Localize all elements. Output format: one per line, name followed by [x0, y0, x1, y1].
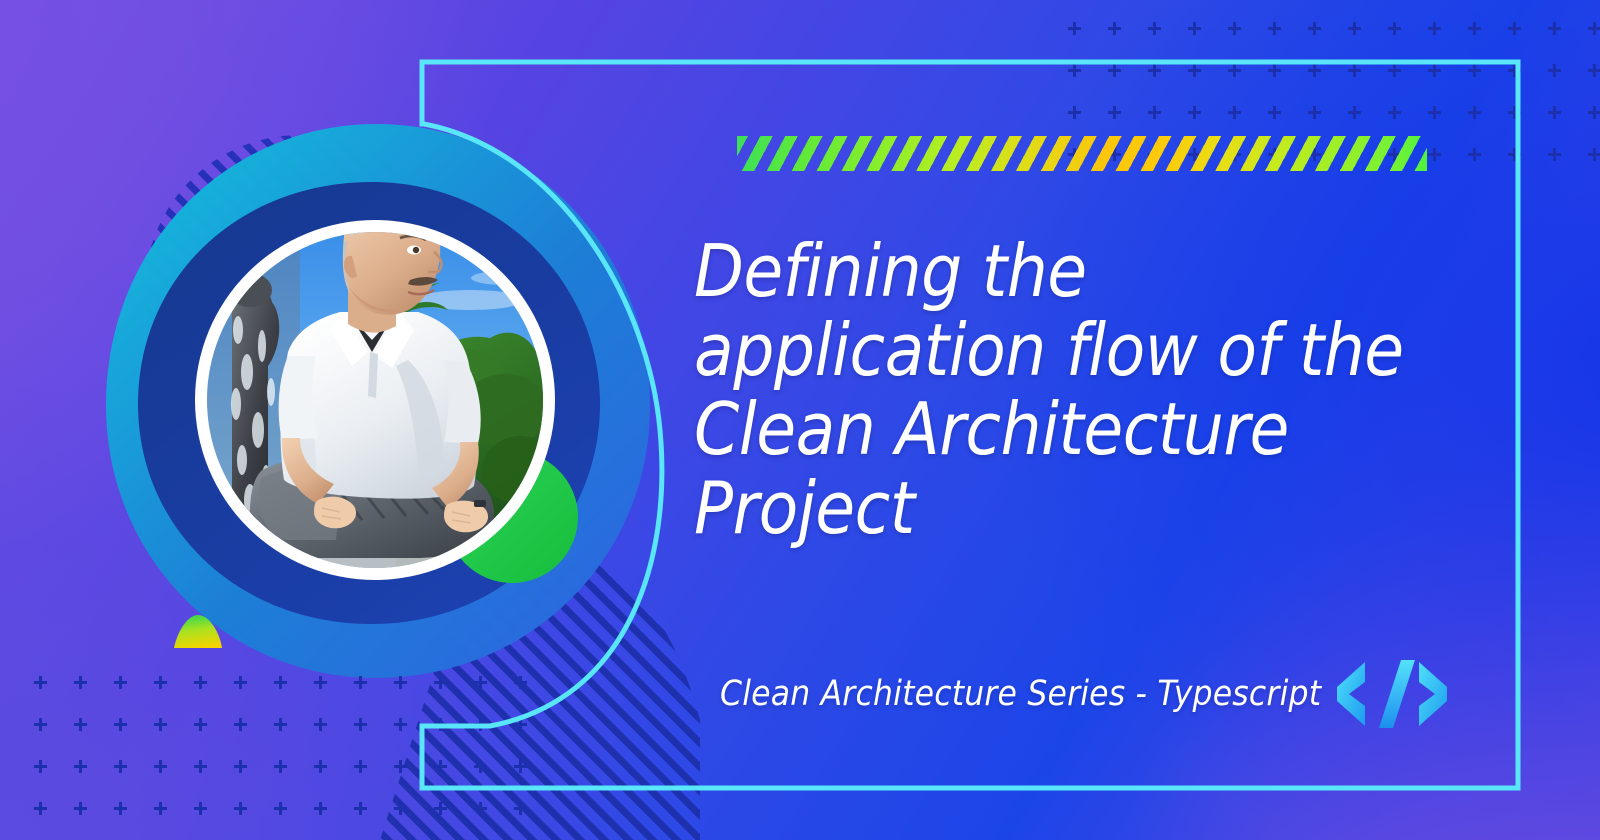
plus-mark: [74, 676, 87, 689]
plus-mark: [154, 802, 167, 815]
plus-mark: [274, 676, 287, 689]
plus-mark: [34, 676, 47, 689]
plus-mark: [1428, 106, 1441, 119]
plus-mark: [194, 718, 207, 731]
plus-mark: [1388, 64, 1401, 77]
plus-mark: [1188, 64, 1201, 77]
series-subtitle: Clean Architecture Series - Typescript: [720, 673, 1321, 715]
plus-mark: [154, 718, 167, 731]
plus-mark: [474, 760, 487, 773]
plus-mark: [354, 676, 367, 689]
plus-mark: [1428, 22, 1441, 35]
plus-mark: [1508, 22, 1521, 35]
plus-mark: [1548, 106, 1561, 119]
plus-mark: [1268, 106, 1281, 119]
plus-mark: [74, 760, 87, 773]
plus-mark: [1188, 106, 1201, 119]
plus-mark: [234, 760, 247, 773]
stripe-bar-fill: [737, 136, 1427, 171]
series-subtitle-row: Clean Architecture Series - Typescript: [720, 658, 1447, 730]
plus-mark: [434, 718, 447, 731]
plus-mark: [34, 760, 47, 773]
plus-mark: [1108, 64, 1121, 77]
hatch-pattern-upper-left: [120, 120, 500, 470]
plus-mark: [154, 760, 167, 773]
plus-mark: [1308, 64, 1321, 77]
social-banner-card: Defining the application flow of the Cle…: [0, 0, 1600, 840]
plus-mark: [1348, 22, 1361, 35]
plus-mark: [394, 802, 407, 815]
diagonal-stripe-bar: [737, 136, 1427, 171]
green-yellow-triangle: [174, 615, 222, 648]
plus-mark: [1508, 106, 1521, 119]
plus-mark: [1388, 22, 1401, 35]
plus-mark: [274, 760, 287, 773]
plus-mark: [114, 802, 127, 815]
plus-mark: [514, 802, 527, 815]
plus-mark: [34, 802, 47, 815]
plus-mark: [1428, 64, 1441, 77]
plus-mark: [74, 718, 87, 731]
plus-mark: [1468, 64, 1481, 77]
plus-mark: [1588, 64, 1600, 77]
plus-mark: [354, 802, 367, 815]
plus-mark: [1548, 148, 1561, 161]
plus-mark: [34, 718, 47, 731]
avatar-photo: [207, 195, 558, 568]
plus-mark: [114, 676, 127, 689]
plus-mark: [234, 676, 247, 689]
code-brackets-icon: [1335, 658, 1447, 730]
plus-mark: [474, 718, 487, 731]
plus-mark: [154, 676, 167, 689]
plus-mark: [1228, 22, 1241, 35]
plus-mark: [234, 718, 247, 731]
plus-mark: [1508, 148, 1521, 161]
plus-mark: [1308, 22, 1321, 35]
plus-mark: [1588, 22, 1600, 35]
plus-mark: [274, 802, 287, 815]
plus-mark: [1508, 64, 1521, 77]
plus-mark: [1548, 22, 1561, 35]
plus-mark: [1388, 106, 1401, 119]
plus-mark: [1148, 64, 1161, 77]
plus-mark: [1068, 22, 1081, 35]
plus-mark: [1148, 22, 1161, 35]
plus-mark: [1068, 106, 1081, 119]
plus-mark: [1268, 22, 1281, 35]
plus-mark: [434, 760, 447, 773]
blob-green: [446, 451, 578, 583]
plus-mark: [1228, 64, 1241, 77]
plus-mark: [194, 760, 207, 773]
plus-mark: [1188, 22, 1201, 35]
blob-navy: [138, 182, 600, 624]
plus-mark: [1268, 64, 1281, 77]
plus-mark: [1068, 64, 1081, 77]
plus-mark: [1428, 148, 1441, 161]
plus-mark: [1148, 106, 1161, 119]
plus-mark: [1468, 106, 1481, 119]
plus-mark: [1108, 106, 1121, 119]
plus-mark: [514, 676, 527, 689]
plus-mark: [114, 718, 127, 731]
plus-mark: [394, 718, 407, 731]
plus-mark: [74, 802, 87, 815]
plus-mark: [114, 760, 127, 773]
plus-mark: [474, 802, 487, 815]
plus-mark: [1588, 106, 1600, 119]
plus-mark: [514, 760, 527, 773]
plus-mark: [314, 760, 327, 773]
plus-mark: [514, 718, 527, 731]
plus-mark: [274, 718, 287, 731]
plus-mark: [394, 760, 407, 773]
plus-mark: [1348, 106, 1361, 119]
avatar-ring: [195, 220, 555, 580]
plus-mark: [1468, 148, 1481, 161]
plus-mark: [1108, 22, 1121, 35]
plus-mark: [354, 718, 367, 731]
plus-mark: [434, 676, 447, 689]
page-title: Defining the application flow of the Cle…: [694, 232, 1454, 548]
plus-mark: [394, 676, 407, 689]
plus-mark: [1348, 64, 1361, 77]
plus-mark: [314, 676, 327, 689]
plus-pattern-bottom-left: [34, 676, 554, 840]
plus-mark: [1228, 106, 1241, 119]
plus-mark: [1468, 22, 1481, 35]
plus-mark: [1588, 148, 1600, 161]
plus-mark: [194, 802, 207, 815]
plus-mark: [1548, 64, 1561, 77]
plus-mark: [194, 676, 207, 689]
blob-teal: [106, 124, 650, 678]
plus-mark: [434, 802, 447, 815]
plus-mark: [314, 802, 327, 815]
plus-mark: [474, 676, 487, 689]
plus-mark: [314, 718, 327, 731]
plus-mark: [1308, 106, 1321, 119]
plus-mark: [354, 760, 367, 773]
plus-mark: [234, 802, 247, 815]
